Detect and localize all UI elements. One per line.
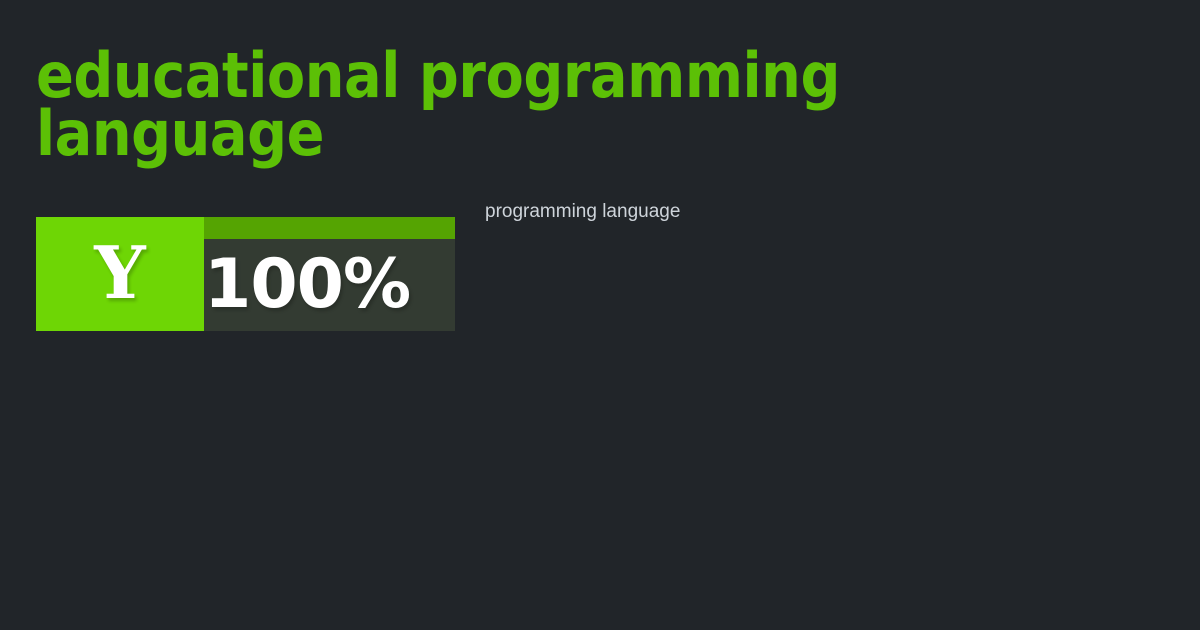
score-meter: 100% [204,217,455,331]
grade-tile: Y [36,217,204,331]
page-canvas: educational programming language Y 100% … [0,0,1200,630]
category-label: programming language [485,200,680,224]
score-percent-label: 100% [204,239,455,331]
grade-letter: Y [94,237,145,309]
score-badge: Y 100% [36,217,455,331]
progress-track [204,217,455,239]
progress-fill [204,217,455,239]
page-title: educational programming language [36,47,900,163]
